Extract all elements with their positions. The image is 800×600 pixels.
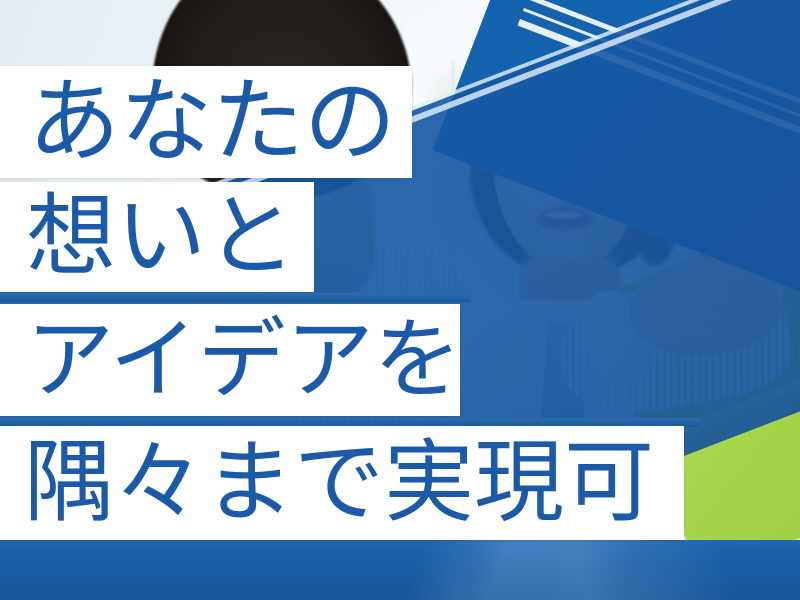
headline-band-3: アイデアを — [0, 304, 460, 416]
headline-band-1: あなたの — [0, 66, 412, 178]
headline-band-2: 想いと — [0, 182, 314, 292]
headline-line-2: 想いと — [0, 192, 296, 282]
headline-line-3: アイデアを — [0, 316, 462, 404]
separator-strip-1 — [0, 293, 470, 302]
headline-band-4: 隅々まで実現可 — [0, 426, 684, 540]
promo-banner: あなたの 想いと アイデアを 隅々まで実現可 — [0, 0, 800, 600]
bottom-solid-band — [0, 540, 800, 600]
headline-line-1: あなたの — [0, 76, 396, 168]
headline-line-4: 隅々まで実現可 — [0, 438, 654, 528]
